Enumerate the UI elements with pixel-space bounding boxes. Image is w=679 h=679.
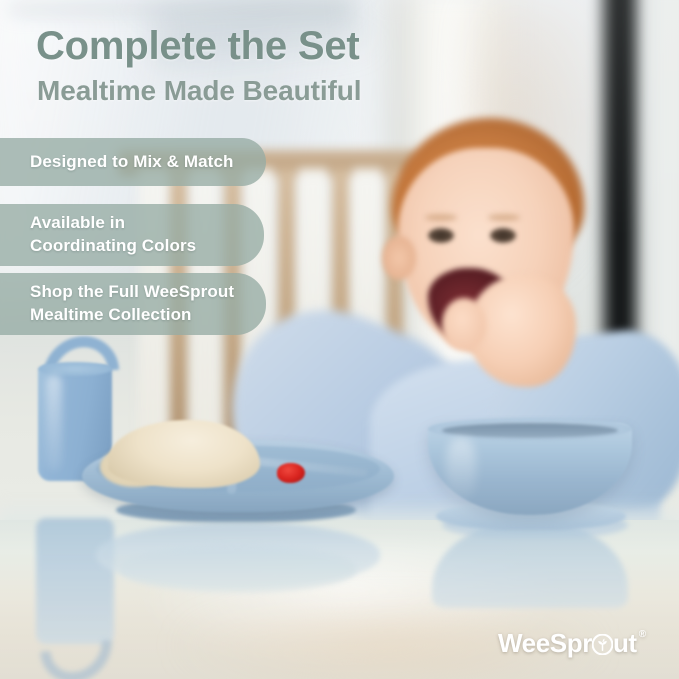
- brand-logo: WeeSpr ut ®: [498, 628, 646, 659]
- feature-pill-label: Available in Coordinating Colors: [30, 212, 196, 257]
- feature-pill-mix-and-match: Designed to Mix & Match: [0, 138, 266, 186]
- registered-trademark-icon: ®: [639, 629, 646, 640]
- feature-pill-label: Shop the Full WeeSprout Mealtime Collect…: [30, 281, 234, 326]
- silicone-cup-rim: [38, 362, 112, 376]
- silicone-cup-highlight: [46, 375, 62, 471]
- child-fingers: [442, 298, 486, 350]
- suction-bowl-highlight: [446, 438, 476, 500]
- feature-pill-coordinating-colors: Available in Coordinating Colors: [0, 204, 264, 266]
- headline-subtitle: Mealtime Made Beautiful: [37, 75, 361, 107]
- child-eyebrow-right: [488, 214, 520, 221]
- feature-pill-shop-collection: Shop the Full WeeSprout Mealtime Collect…: [0, 273, 266, 335]
- brand-logo-text-after: ut: [613, 628, 637, 659]
- child-eyebrow-left: [425, 214, 457, 221]
- feature-pill-label: Designed to Mix & Match: [30, 151, 234, 174]
- suction-bowl-interior: [442, 423, 618, 438]
- headline-title: Complete the Set: [36, 24, 360, 69]
- child-ear: [382, 236, 416, 280]
- product-marketing-image: Complete the Set Mealtime Made Beautiful…: [0, 0, 679, 679]
- child-eye-right: [490, 228, 516, 243]
- brand-logo-text-before: WeeSpr: [498, 628, 592, 659]
- sprout-icon: [592, 631, 613, 652]
- food-raspberry: [277, 463, 305, 483]
- plate-base-reflection: [120, 545, 356, 593]
- child-eye-left: [428, 228, 454, 243]
